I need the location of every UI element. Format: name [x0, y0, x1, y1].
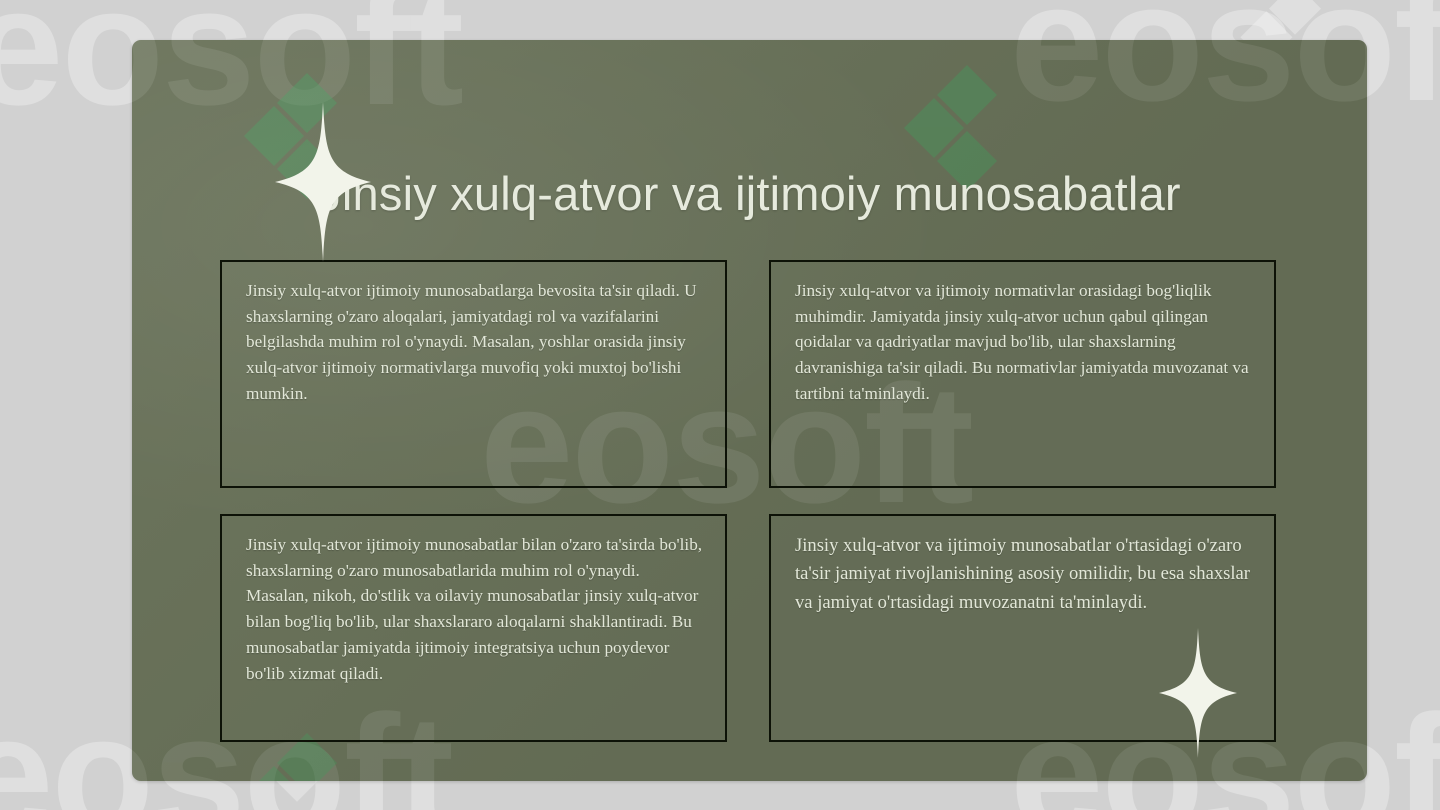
- content-box-4: Jinsiy xulq-atvor va ijtimoiy munosabatl…: [769, 514, 1276, 742]
- content-box-2-text: Jinsiy xulq-atvor va ijtimoiy normativla…: [795, 278, 1252, 407]
- content-box-grid: Jinsiy xulq-atvor ijtimoiy munosabatlarg…: [220, 260, 1276, 742]
- content-box-4-text: Jinsiy xulq-atvor va ijtimoiy munosabatl…: [795, 532, 1252, 617]
- slide-panel: eosoft eosoft eosoft eosoft eosoft: [132, 40, 1367, 781]
- content-box-3-text: Jinsiy xulq-atvor ijtimoiy munosabatlar …: [246, 532, 703, 686]
- content-box-3: Jinsiy xulq-atvor ijtimoiy munosabatlar …: [220, 514, 727, 742]
- watermark-text: eosoft: [132, 40, 462, 130]
- content-box-2: Jinsiy xulq-atvor va ijtimoiy normativla…: [769, 260, 1276, 488]
- slide-title: Jinsiy xulq-atvor va ijtimoiy munosabatl…: [132, 168, 1367, 221]
- content-box-1-text: Jinsiy xulq-atvor ijtimoiy munosabatlarg…: [246, 278, 703, 407]
- watermark-text: eosoft: [1010, 40, 1367, 126]
- content-box-1: Jinsiy xulq-atvor ijtimoiy munosabatlarg…: [220, 260, 727, 488]
- screenshot-stage: eosoft eosoft eosoft eosoft eosoft eosof…: [0, 0, 1440, 810]
